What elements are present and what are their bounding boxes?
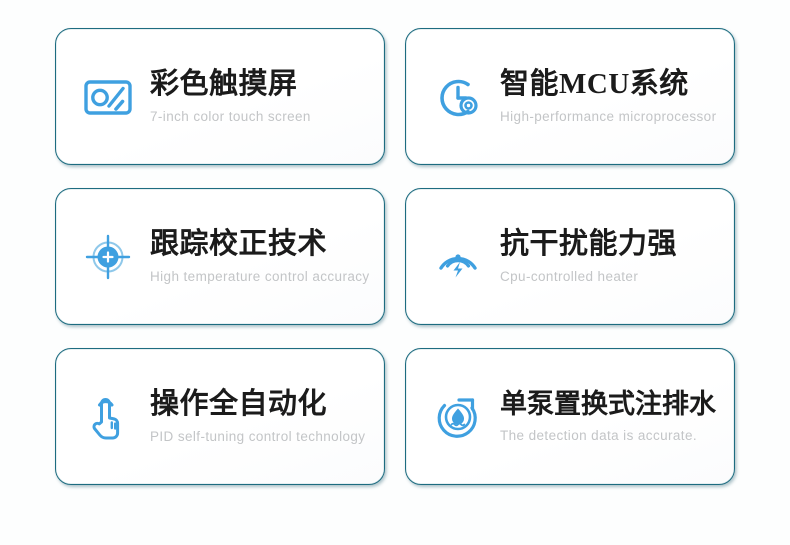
feature-card-intelligent-mcu[interactable]: 智能MCU系统 High-performance microprocessor — [405, 28, 735, 165]
card-text: 智能MCU系统 High-performance microprocessor — [500, 68, 724, 125]
card-subtitle: The detection data is accurate. — [500, 428, 724, 444]
water-drop-circle-icon — [428, 387, 488, 447]
clock-mcu-icon — [428, 67, 488, 127]
card-subtitle: High-performance microprocessor — [500, 109, 724, 125]
feature-card-color-touch-screen[interactable]: 彩色触摸屏 7-inch color touch screen — [55, 28, 385, 165]
card-title: 抗干扰能力强 — [500, 228, 724, 262]
signal-bolt-icon — [428, 227, 488, 287]
card-title: 智能MCU系统 — [500, 68, 724, 102]
card-subtitle: 7-inch color touch screen — [150, 109, 374, 125]
card-title: 跟踪校正技术 — [150, 228, 374, 262]
feature-card-single-pump-water[interactable]: 单泵置换式注排水 The detection data is accurate. — [405, 348, 735, 485]
card-title: 单泵置换式注排水 — [500, 389, 724, 420]
card-text: 操作全自动化 PID self-tuning control technolog… — [150, 388, 374, 445]
color-touch-screen-icon — [78, 67, 138, 127]
feature-grid: 彩色触摸屏 7-inch color touch screen 智能MCU系统 … — [0, 0, 790, 545]
feature-card-anti-interference[interactable]: 抗干扰能力强 Cpu-controlled heater — [405, 188, 735, 325]
card-text: 跟踪校正技术 High temperature control accuracy — [150, 228, 374, 285]
hand-tap-icon — [78, 387, 138, 447]
card-title: 彩色触摸屏 — [150, 68, 374, 102]
feature-card-full-automation[interactable]: 操作全自动化 PID self-tuning control technolog… — [55, 348, 385, 485]
crosshair-target-icon — [78, 227, 138, 287]
card-text: 彩色触摸屏 7-inch color touch screen — [150, 68, 374, 125]
card-title: 操作全自动化 — [150, 388, 374, 422]
card-subtitle: PID self-tuning control technology — [150, 429, 374, 445]
card-text: 抗干扰能力强 Cpu-controlled heater — [500, 228, 724, 285]
card-subtitle: High temperature control accuracy — [150, 269, 374, 285]
card-subtitle: Cpu-controlled heater — [500, 269, 724, 285]
feature-card-tracking-calibration[interactable]: 跟踪校正技术 High temperature control accuracy — [55, 188, 385, 325]
card-text: 单泵置换式注排水 The detection data is accurate. — [500, 389, 724, 444]
